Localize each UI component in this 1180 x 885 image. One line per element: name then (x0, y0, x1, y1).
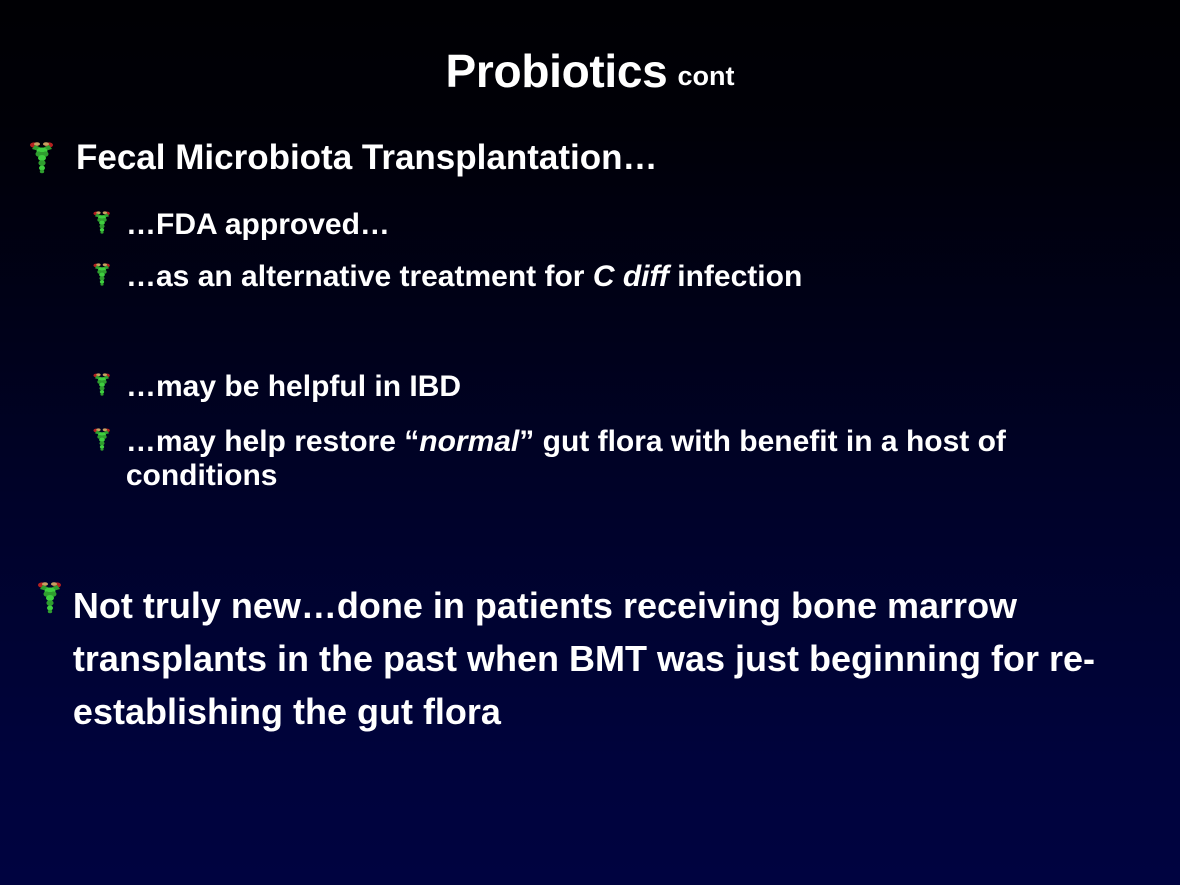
bullet-fda-approved: …FDA approved… (92, 208, 390, 242)
plant-sprig-bullet-icon (28, 140, 56, 174)
plant-sprig-bullet-icon (92, 260, 112, 288)
bullet-label: …as an alternative treatment for C diff … (126, 260, 802, 294)
plant-sprig-bullet-icon (92, 208, 112, 236)
plant-sprig-bullet-icon (92, 425, 112, 453)
bullet-label: …may help restore “normal” gut flora wit… (126, 425, 1152, 493)
bullet-may-be-helpful-in-ibd: …may be helpful in IBD (92, 370, 461, 404)
bullet-text-italic: normal (419, 425, 519, 458)
plant-sprig-bullet-icon (36, 580, 64, 614)
page-title: Probiotics (446, 45, 668, 97)
bullet-not-truly-new: Not truly new…done in patients receiving… (36, 580, 1146, 739)
bullet-label: …may be helpful in IBD (126, 370, 461, 404)
bullet-text-before: …as an alternative treatment for (126, 260, 593, 293)
page-title-suffix: cont (677, 61, 734, 91)
bullet-label: …FDA approved… (126, 208, 390, 242)
slide-title: Probioticscont (0, 44, 1180, 98)
bullet-fecal-microbiota-transplantation: Fecal Microbiota Transplantation… (28, 140, 657, 176)
presentation-slide: Probioticscont Fecal Microbiota (0, 0, 1180, 885)
bullet-label: Fecal Microbiota Transplantation… (76, 140, 657, 176)
bullet-text-italic: C diff (593, 260, 669, 293)
bullet-label: Not truly new…done in patients receiving… (73, 580, 1146, 739)
bullet-alternative-treatment-c-diff: …as an alternative treatment for C diff … (92, 260, 802, 294)
bullet-text-after: infection (669, 260, 802, 293)
bullet-text-before: …may help restore “ (126, 425, 419, 458)
bullet-may-help-restore-normal-gut-flora: …may help restore “normal” gut flora wit… (92, 425, 1152, 493)
plant-sprig-bullet-icon (92, 370, 112, 398)
